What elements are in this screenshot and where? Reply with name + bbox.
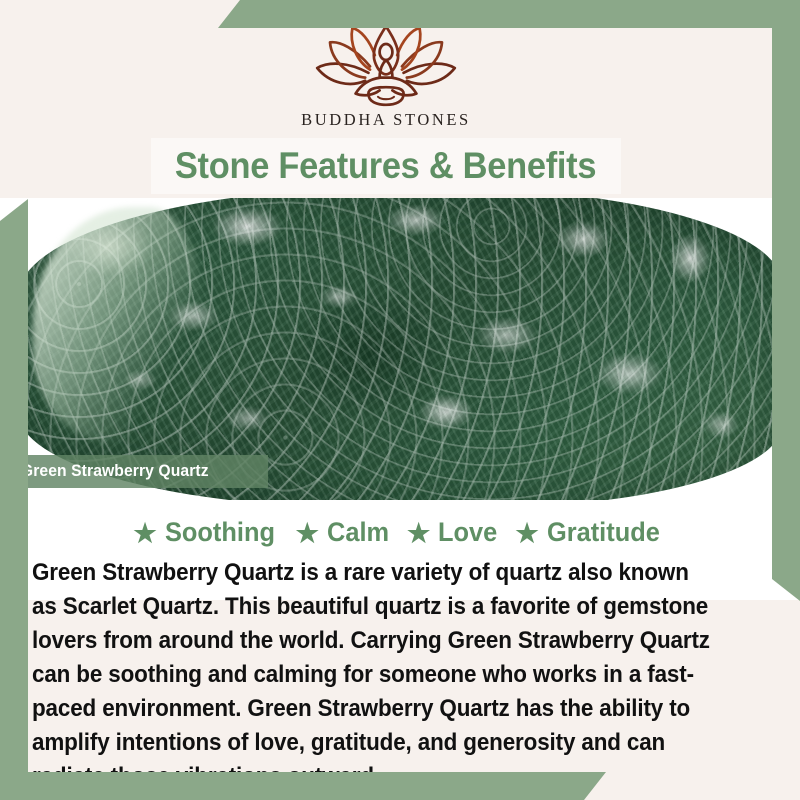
description-text: Green Strawberry Quartz is a rare variet… bbox=[32, 556, 711, 794]
star-icon: ★ bbox=[133, 520, 156, 546]
feature-label: Gratitude bbox=[547, 517, 660, 548]
star-icon: ★ bbox=[515, 520, 538, 546]
star-icon: ★ bbox=[296, 520, 319, 546]
infographic-page: Green Strawberry Quartz bbox=[0, 0, 800, 800]
brand-logo bbox=[302, 20, 470, 108]
brand-name: BUDDHA STONES bbox=[301, 110, 471, 130]
feature-label: Love bbox=[438, 517, 497, 548]
feature-item: ★ Calm bbox=[289, 517, 400, 548]
feature-list: ★ Soothing ★ Calm ★ Love ★ Gratitude bbox=[28, 517, 772, 548]
stone-frosted-edge bbox=[33, 207, 201, 444]
stone-caption-band: Green Strawberry Quartz bbox=[0, 455, 268, 488]
lotus-meditation-logo-icon bbox=[302, 20, 470, 108]
feature-item: ★ Soothing bbox=[126, 517, 288, 548]
stone-caption-label: Green Strawberry Quartz bbox=[0, 462, 209, 481]
title-banner: Stone Features & Benefits bbox=[151, 138, 621, 194]
feature-item: ★ Gratitude bbox=[508, 517, 673, 548]
star-icon: ★ bbox=[407, 520, 430, 546]
page-header: BUDDHA STONES Stone Features & Benefits bbox=[0, 0, 772, 200]
feature-label: Soothing bbox=[165, 517, 275, 548]
page-title: Stone Features & Benefits bbox=[175, 145, 596, 187]
feature-label: Calm bbox=[327, 517, 389, 548]
feature-item: ★ Love bbox=[400, 517, 508, 548]
